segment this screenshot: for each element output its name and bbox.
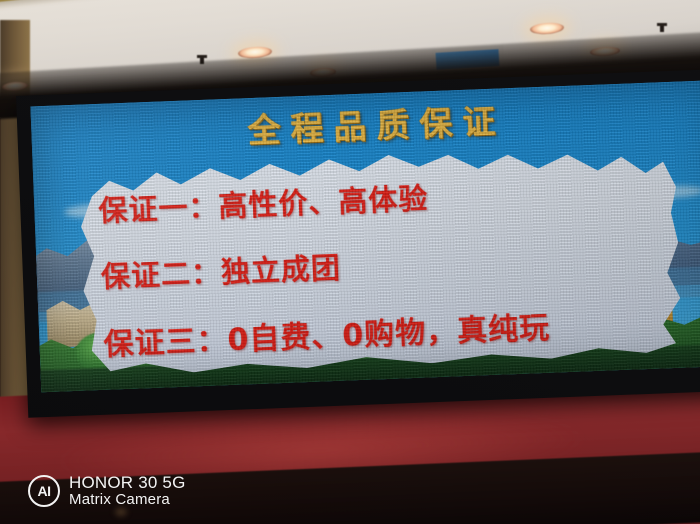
led-screen-bezel: 全程品质保证 保证一：高性价、高体验 保证二：独立成团 保证三：0自费、0购物，… — [16, 69, 700, 418]
watermark-device-name: HONOR 30 5G — [69, 474, 186, 492]
guarantee-line-2: 保证二：独立成团 — [100, 232, 671, 296]
led-screen[interactable]: 全程品质保证 保证一：高性价、高体验 保证二：独立成团 保证三：0自费、0购物，… — [30, 80, 700, 392]
watermark-camera-mode: Matrix Camera — [69, 492, 186, 508]
guarantee-list: 保证一：高性价、高体验 保证二：独立成团 保证三：0自费、0购物，真纯玩 — [98, 164, 674, 364]
camera-watermark: AI HONOR 30 5G Matrix Camera — [28, 474, 186, 509]
photograph: 全程品质保证 保证一：高性价、高体验 保证二：独立成团 保证三：0自费、0购物，… — [0, 0, 700, 524]
ai-logo-icon: AI — [28, 475, 60, 507]
sprinkler-head-icon — [660, 23, 664, 32]
watermark-text: HONOR 30 5G Matrix Camera — [69, 474, 186, 509]
